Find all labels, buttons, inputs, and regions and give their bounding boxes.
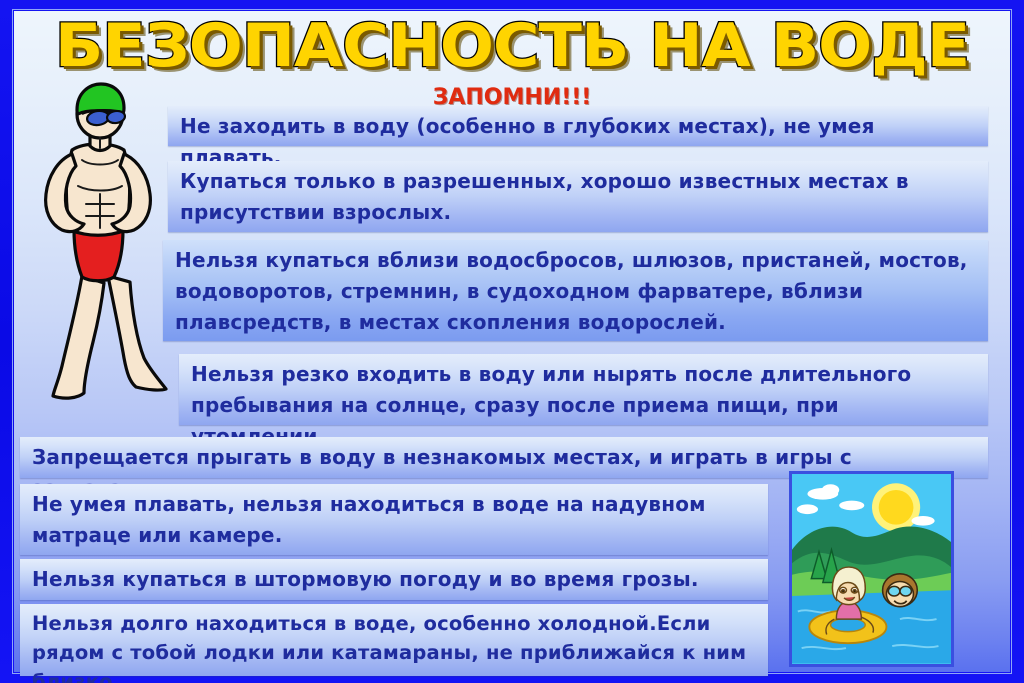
page-title: БЕЗОПАСНОСТЬ НА ВОДЕ (0, 16, 1024, 76)
safety-rule-item: Не заходить в воду (особенно в глубоких … (168, 106, 988, 146)
water-safety-poster: БЕЗОПАСНОСТЬ НА ВОДЕ ЗАПОМНИ!!! Не заход… (0, 0, 1024, 683)
beach-illustration (789, 471, 954, 667)
safety-rule-item: Нельзя купаться вблизи водосбросов, шлюз… (163, 240, 988, 341)
swimmer-illustration (20, 78, 180, 418)
safety-rule-item: Нельзя купаться в штормовую погоду и во … (20, 559, 768, 600)
safety-rule-item: Купаться только в разрешенных, хорошо из… (168, 161, 988, 232)
safety-rule-item: Нельзя долго находиться в воде, особенно… (20, 604, 768, 676)
safety-rule-item: Не умея плавать, нельзя находиться в вод… (20, 484, 768, 555)
safety-rule-item: Нельзя резко входить в воду или нырять п… (179, 354, 988, 425)
